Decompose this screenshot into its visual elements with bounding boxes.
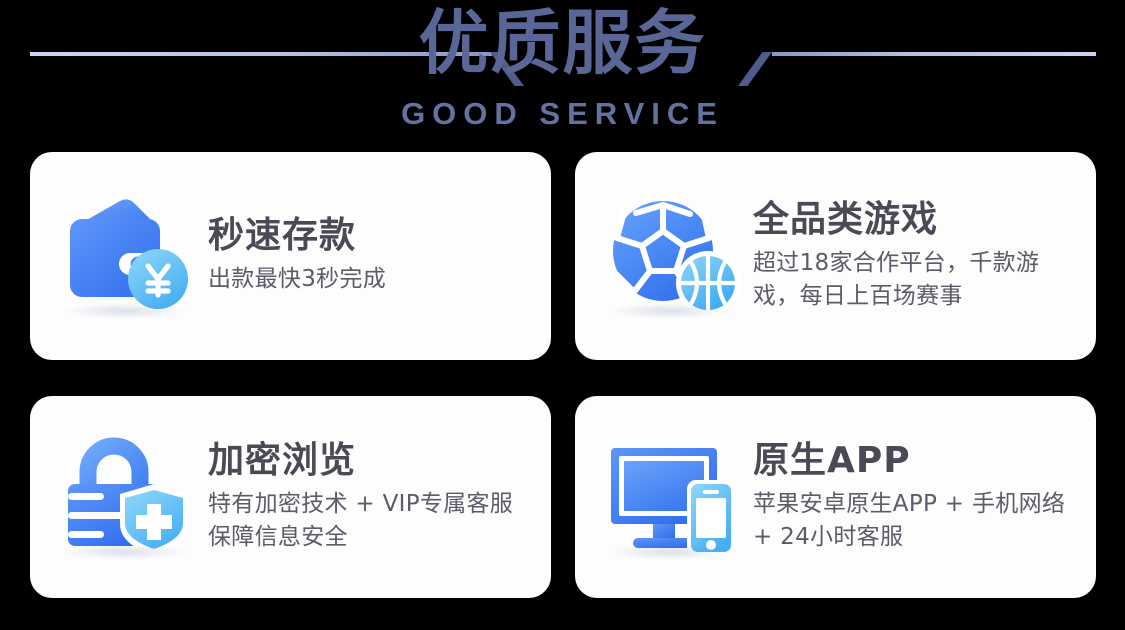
card-title: 秒速存款 (208, 216, 535, 256)
header-rule-right (772, 52, 1096, 56)
soccer-basketball-icon (603, 191, 753, 321)
icon-shadow (609, 544, 731, 560)
wallet-yen-icon (58, 191, 208, 321)
icon-shadow (64, 303, 186, 319)
card-description: 出款最快3秒完成 (208, 263, 535, 296)
lock-shield-icon (58, 432, 208, 562)
wallet-yen-icon-art (58, 191, 208, 321)
feature-card-games[interactable]: 全品类游戏 超过18家合作平台，千款游戏，每日上百场赛事 (575, 152, 1096, 360)
card-title: 加密浏览 (208, 441, 535, 481)
card-text-block: 原生APP 苹果安卓原生APP + 手机网络 + 24小时客服 (753, 441, 1096, 554)
card-description: 超过18家合作平台，千款游戏，每日上百场赛事 (753, 247, 1080, 312)
promo-banner: 优质服务 GOOD SERVICE (0, 0, 1125, 630)
card-description: 特有加密技术 + VIP专属客服保障信息安全 (208, 488, 535, 553)
feature-card-encryption[interactable]: 加密浏览 特有加密技术 + VIP专属客服保障信息安全 (30, 396, 551, 598)
card-title: 原生APP (753, 441, 1080, 481)
monitor-phone-icon (603, 432, 753, 562)
monitor-phone-icon-art (603, 432, 753, 562)
icon-shadow (64, 544, 186, 560)
card-description: 苹果安卓原生APP + 手机网络 + 24小时客服 (753, 488, 1080, 553)
card-text-block: 全品类游戏 超过18家合作平台，千款游戏，每日上百场赛事 (753, 200, 1096, 313)
page-subtitle: GOOD SERVICE (0, 96, 1125, 132)
soccer-basketball-icon-art (603, 191, 753, 321)
lock-shield-icon-art (58, 432, 208, 562)
icon-shadow (609, 303, 731, 319)
feature-card-deposit[interactable]: 秒速存款 出款最快3秒完成 (30, 152, 551, 360)
page-title: 优质服务 (0, 6, 1125, 82)
feature-card-grid: 秒速存款 出款最快3秒完成 (30, 152, 1096, 598)
card-text-block: 秒速存款 出款最快3秒完成 (208, 216, 551, 296)
feature-card-native-app[interactable]: 原生APP 苹果安卓原生APP + 手机网络 + 24小时客服 (575, 396, 1096, 598)
card-text-block: 加密浏览 特有加密技术 + VIP专属客服保障信息安全 (208, 441, 551, 554)
card-title: 全品类游戏 (753, 200, 1080, 240)
banner-header: 优质服务 GOOD SERVICE (0, 0, 1125, 148)
